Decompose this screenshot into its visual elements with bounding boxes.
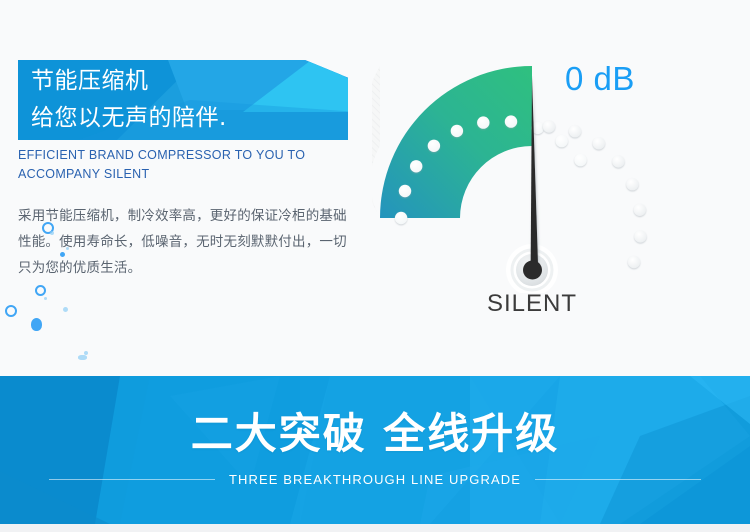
banner-subtitle-row: THREE BREAKTHROUGH LINE UPGRADE xyxy=(0,472,750,487)
gauge-graphic xyxy=(372,58,742,293)
gauge-needle-cap xyxy=(523,261,542,280)
feature-body-copy: 采用节能压缩机，制冷效率高，更好的保证冷柜的基础性能。使用寿命长，低噪音，无时无… xyxy=(18,203,348,281)
bubble-icon xyxy=(35,285,46,296)
bubble-icon xyxy=(60,252,65,257)
banner-rule-left xyxy=(49,479,215,480)
headline-line-1: 节能压缩机 xyxy=(31,63,149,100)
feature-subheadline: EFFICIENT BRAND COMPRESSOR TO YOU TO ACC… xyxy=(18,146,348,184)
gauge-inactive-arc xyxy=(372,66,380,218)
headline-facet-3 xyxy=(243,60,348,112)
bubble-icon xyxy=(44,297,47,300)
page-bottom-strip xyxy=(0,524,750,532)
headline-banner: 节能压缩机 给您以无声的陪伴. xyxy=(18,60,348,140)
headline-line-2: 给您以无声的陪伴. xyxy=(31,100,227,137)
bubble-icon xyxy=(5,305,17,317)
banner-title: 二大突破 全线升级 xyxy=(0,400,750,461)
bubble-icon xyxy=(84,351,88,355)
banner-subtitle: THREE BREAKTHROUGH LINE UPGRADE xyxy=(229,472,521,487)
bubble-icon xyxy=(31,318,42,331)
bubble-icon xyxy=(78,355,87,360)
feature-text-column: 节能压缩机 给您以无声的陪伴. xyxy=(18,60,358,140)
gauge-caption: SILENT xyxy=(372,290,692,318)
gauge-value-label: 0 dB xyxy=(565,60,635,98)
bubble-icon xyxy=(66,247,69,250)
feature-section: 节能压缩机 给您以无声的陪伴. EFFICIENT BRAND COMPRESS… xyxy=(0,0,750,376)
bottom-banner: 二大突破 全线升级 THREE BREAKTHROUGH LINE UPGRAD… xyxy=(0,376,750,524)
noise-gauge: 0 dB SILENT xyxy=(372,58,742,328)
bubble-icon xyxy=(63,307,68,312)
promo-page: 节能压缩机 给您以无声的陪伴. EFFICIENT BRAND COMPRESS… xyxy=(0,0,750,532)
bubble-icon xyxy=(50,231,54,235)
banner-rule-right xyxy=(535,479,701,480)
